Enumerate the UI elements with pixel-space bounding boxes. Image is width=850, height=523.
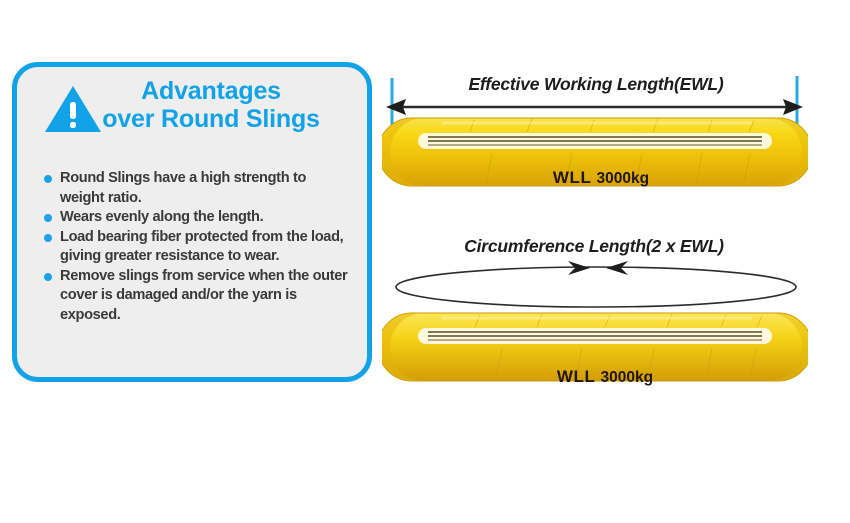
list-item-text: Remove slings from service when the oute… xyxy=(60,268,347,323)
page-title: Advantages over Round Slings xyxy=(61,77,361,133)
title-line-1: Advantages xyxy=(61,77,361,105)
bullet-dot-icon xyxy=(44,214,52,222)
list-item-text: Load bearing fiber protected from the lo… xyxy=(60,229,343,265)
sling-diagram-area: Effective Working Length(EWL) xyxy=(378,0,850,523)
list-item-text: Wears evenly along the length. xyxy=(60,209,263,225)
list-item: Wears evenly along the length. xyxy=(43,208,353,228)
diagram-circumference-length: Circumference Length(2 x EWL) xyxy=(378,232,850,397)
round-sling-illustration xyxy=(382,309,808,385)
title-line-2: over Round Slings xyxy=(61,105,361,133)
list-item: Round Slings have a high strength to wei… xyxy=(43,169,353,208)
diagram-effective-working-length: Effective Working Length(EWL) xyxy=(378,62,850,202)
advantages-panel: Advantages over Round Slings Round Sling… xyxy=(12,62,372,382)
infographic-root: Advantages over Round Slings Round Sling… xyxy=(0,0,850,523)
bullet-dot-icon xyxy=(44,273,52,281)
advantages-bullet-list: Round Slings have a high strength to wei… xyxy=(43,169,353,325)
bullet-dot-icon xyxy=(44,175,52,183)
round-sling-illustration xyxy=(382,114,808,190)
panel-header: Advantages over Round Slings xyxy=(17,67,367,145)
list-item-text: Round Slings have a high strength to wei… xyxy=(60,170,306,206)
list-item: Load bearing fiber protected from the lo… xyxy=(43,228,353,267)
bullet-dot-icon xyxy=(44,234,52,242)
list-item: Remove slings from service when the oute… xyxy=(43,267,353,326)
